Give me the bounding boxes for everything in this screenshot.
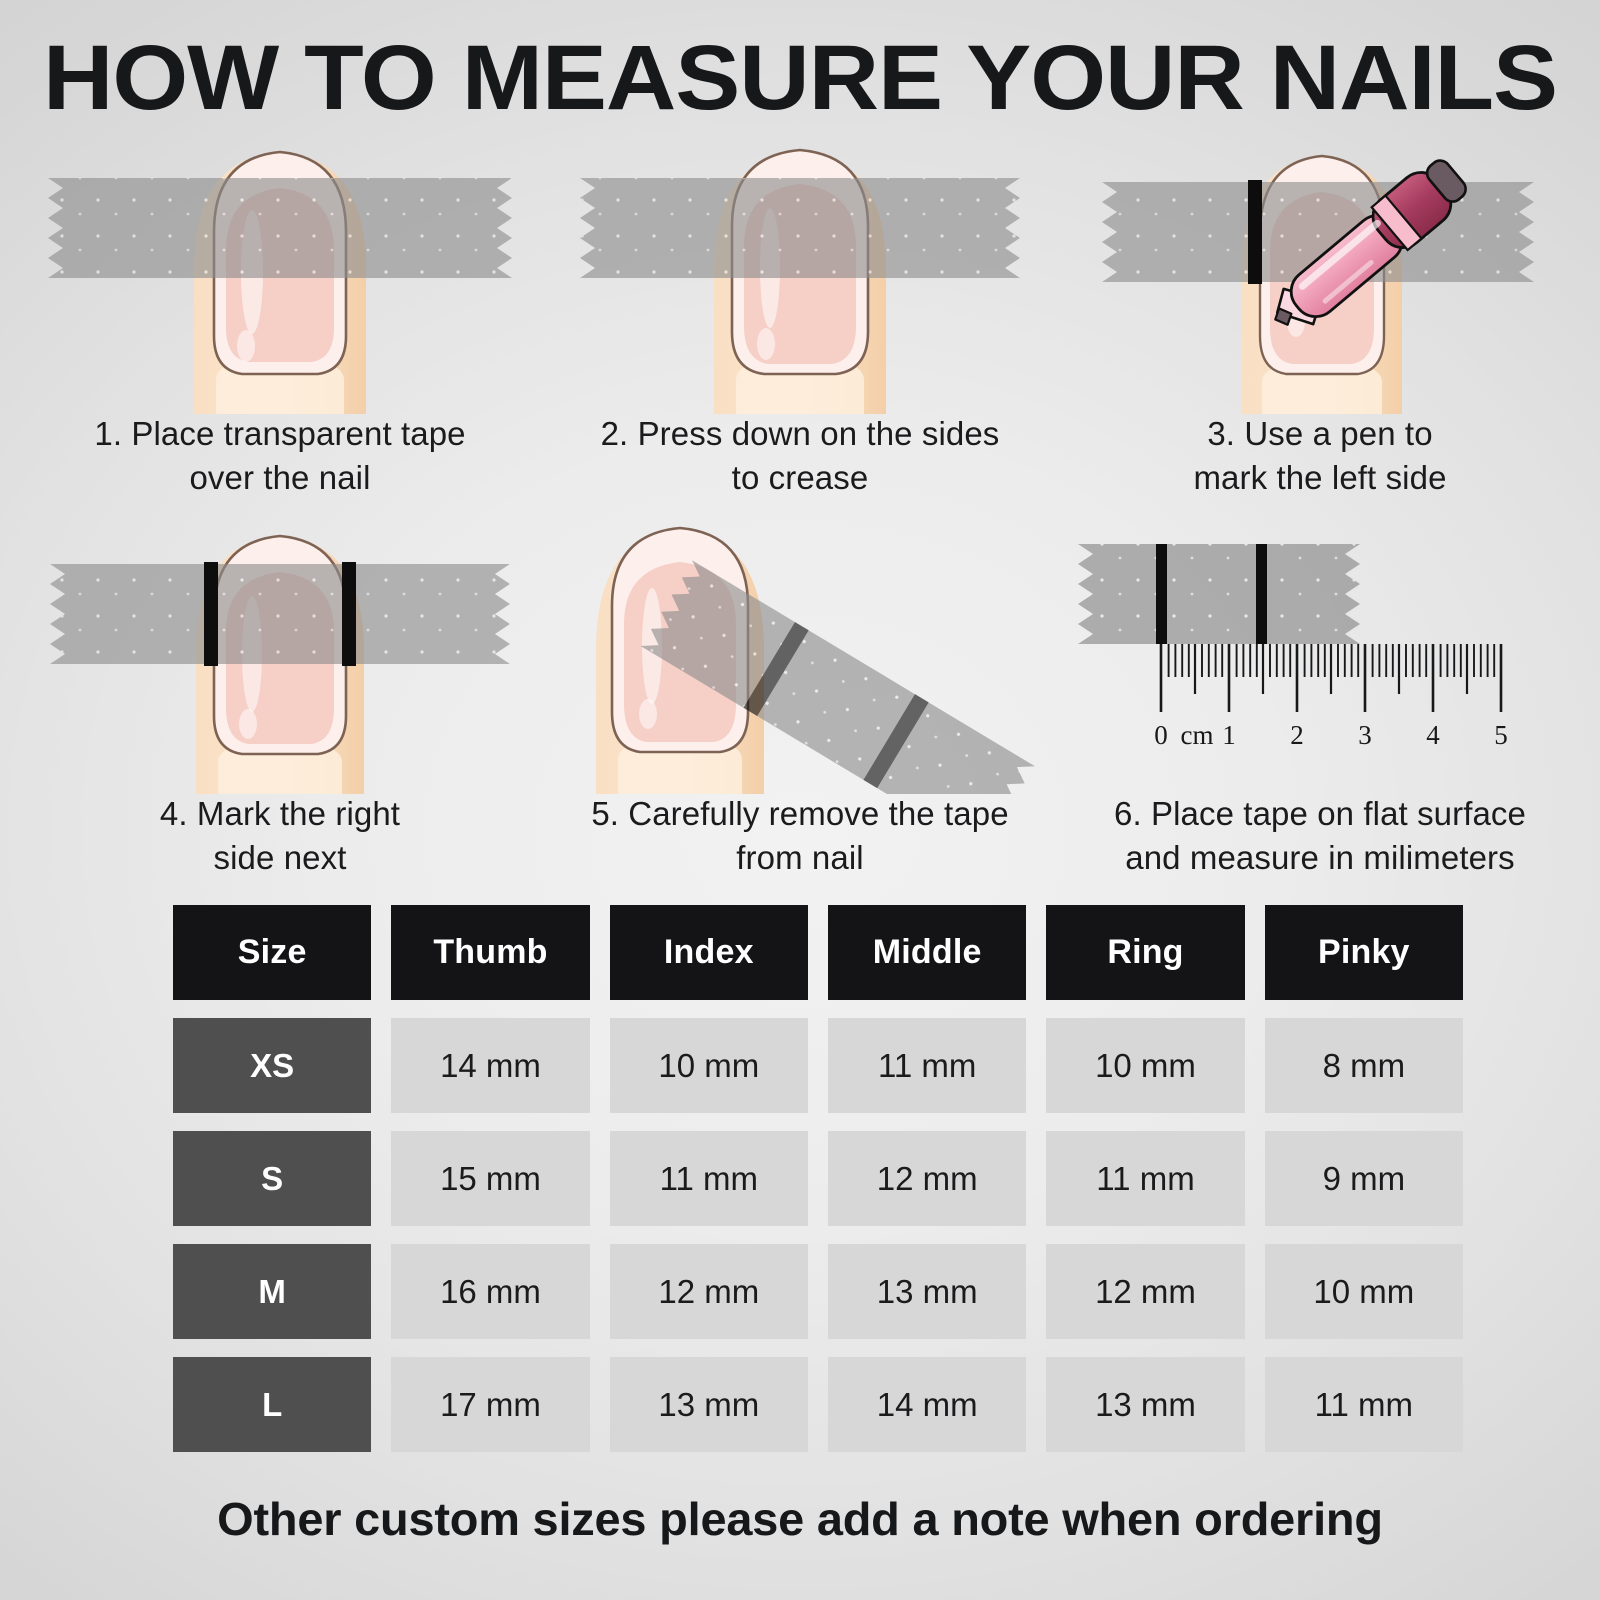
step-6-caption-line1: 6. Place tape on flat surface [1060, 792, 1580, 836]
cell-l-ring: 13 mm [1046, 1357, 1244, 1452]
tape-strip [580, 178, 1020, 278]
right-mark [1256, 544, 1267, 644]
cell-s-middle: 12 mm [828, 1131, 1026, 1226]
ruler-tick-2: 2 [1290, 720, 1304, 750]
cell-xs-ring: 10 mm [1046, 1018, 1244, 1113]
step-3: 3. Use a pen to mark the left side [1060, 122, 1580, 502]
finger-tape-peeling-graphic [540, 502, 1060, 794]
step-5: 5. Carefully remove the tape from nail [540, 502, 1060, 882]
finger-tape-pen-graphic [1060, 122, 1580, 414]
step-5-illustration [540, 502, 1060, 794]
finger-tape-two-marks-graphic [20, 502, 540, 794]
step-4-caption-line2: side next [20, 836, 540, 880]
cell-m-thumb: 16 mm [391, 1244, 589, 1339]
step-6-illustration: 0 cm 1 2 3 4 5 [1060, 502, 1580, 794]
header-middle: Middle [828, 905, 1026, 1000]
ruler-labels: 0 cm 1 2 3 4 5 [1154, 720, 1508, 750]
step-5-caption: 5. Carefully remove the tape from nail [540, 792, 1060, 880]
header-index: Index [610, 905, 808, 1000]
cell-m-middle: 13 mm [828, 1244, 1026, 1339]
header-ring: Ring [1046, 905, 1244, 1000]
cell-s-thumb: 15 mm [391, 1131, 589, 1226]
cell-m-pinky: 10 mm [1265, 1244, 1463, 1339]
ruler-tick-4: 4 [1426, 720, 1440, 750]
step-4: 4. Mark the right side next [20, 502, 540, 882]
cell-xs-index: 10 mm [610, 1018, 808, 1113]
step-5-caption-line1: 5. Carefully remove the tape [540, 792, 1060, 836]
tape-strip [48, 178, 512, 278]
cell-s-ring: 11 mm [1046, 1131, 1244, 1226]
size-label-l: L [173, 1357, 371, 1452]
step-4-illustration [20, 502, 540, 794]
step-3-illustration [1060, 122, 1580, 414]
tape-strip [1078, 544, 1360, 644]
step-6: 0 cm 1 2 3 4 5 6. Place tape on flat sur… [1060, 502, 1580, 882]
size-label-xs: XS [173, 1018, 371, 1113]
step-1: 1. Place transparent tape over the nail [20, 122, 540, 502]
ruler-tick-3: 3 [1358, 720, 1372, 750]
left-mark [204, 562, 218, 666]
tape-on-ruler-graphic: 0 cm 1 2 3 4 5 [1060, 502, 1580, 794]
cell-l-thumb: 17 mm [391, 1357, 589, 1452]
size-label-s: S [173, 1131, 371, 1226]
step-3-caption: 3. Use a pen to mark the left side [1060, 412, 1580, 500]
step-4-caption: 4. Mark the right side next [20, 792, 540, 880]
step-2: 2. Press down on the sides to crease [540, 122, 1060, 502]
cell-xs-middle: 11 mm [828, 1018, 1026, 1113]
ruler-tick-5: 5 [1494, 720, 1508, 750]
right-mark [342, 562, 356, 666]
left-mark [1156, 544, 1167, 644]
step-2-caption: 2. Press down on the sides to crease [540, 412, 1060, 500]
cell-m-index: 12 mm [610, 1244, 808, 1339]
step-2-caption-line1: 2. Press down on the sides [540, 412, 1060, 456]
step-2-caption-line2: to crease [540, 456, 1060, 500]
header-thumb: Thumb [391, 905, 589, 1000]
step-3-caption-line2: mark the left side [1060, 456, 1580, 500]
step-6-caption-line2: and measure in milimeters [1060, 836, 1580, 880]
table-row: L 17 mm 13 mm 14 mm 13 mm 11 mm [173, 1357, 1463, 1452]
step-1-illustration [20, 122, 540, 414]
page-title: HOW TO MEASURE YOUR NAILS [0, 26, 1600, 130]
cell-xs-pinky: 8 mm [1265, 1018, 1463, 1113]
table-row: S 15 mm 11 mm 12 mm 11 mm 9 mm [173, 1131, 1463, 1226]
cell-l-middle: 14 mm [828, 1357, 1026, 1452]
finger-with-tape-graphic [20, 122, 540, 414]
cell-s-pinky: 9 mm [1265, 1131, 1463, 1226]
left-mark [1248, 180, 1262, 284]
cell-s-index: 11 mm [610, 1131, 808, 1226]
finger-with-creased-tape-graphic [540, 122, 1060, 414]
footer-note: Other custom sizes please add a note whe… [0, 1492, 1600, 1546]
step-4-caption-line1: 4. Mark the right [20, 792, 540, 836]
size-label-m: M [173, 1244, 371, 1339]
tape-strip [50, 564, 510, 664]
step-1-caption-line2: over the nail [20, 456, 540, 500]
cell-m-ring: 12 mm [1046, 1244, 1244, 1339]
cell-l-pinky: 11 mm [1265, 1357, 1463, 1452]
ruler-tick-1: 1 [1222, 720, 1236, 750]
steps-grid: 1. Place transparent tape over the nail [20, 122, 1580, 882]
header-pinky: Pinky [1265, 905, 1463, 1000]
header-size: Size [173, 905, 371, 1000]
step-1-caption-line1: 1. Place transparent tape [20, 412, 540, 456]
table-row: M 16 mm 12 mm 13 mm 12 mm 10 mm [173, 1244, 1463, 1339]
table-header-row: Size Thumb Index Middle Ring Pinky [173, 905, 1463, 1000]
size-chart-table: Size Thumb Index Middle Ring Pinky XS 14… [173, 905, 1463, 1470]
step-1-caption: 1. Place transparent tape over the nail [20, 412, 540, 500]
table-row: XS 14 mm 10 mm 11 mm 10 mm 8 mm [173, 1018, 1463, 1113]
ruler-unit-label: cm [1181, 720, 1214, 750]
step-5-caption-line2: from nail [540, 836, 1060, 880]
cell-xs-thumb: 14 mm [391, 1018, 589, 1113]
infographic-page: HOW TO MEASURE YOUR NAILS [0, 0, 1600, 1600]
step-3-caption-line1: 3. Use a pen to [1060, 412, 1580, 456]
step-6-caption: 6. Place tape on flat surface and measur… [1060, 792, 1580, 880]
ruler-tick-0: 0 [1154, 720, 1168, 750]
cell-l-index: 13 mm [610, 1357, 808, 1452]
step-2-illustration [540, 122, 1060, 414]
ruler [1161, 644, 1501, 712]
